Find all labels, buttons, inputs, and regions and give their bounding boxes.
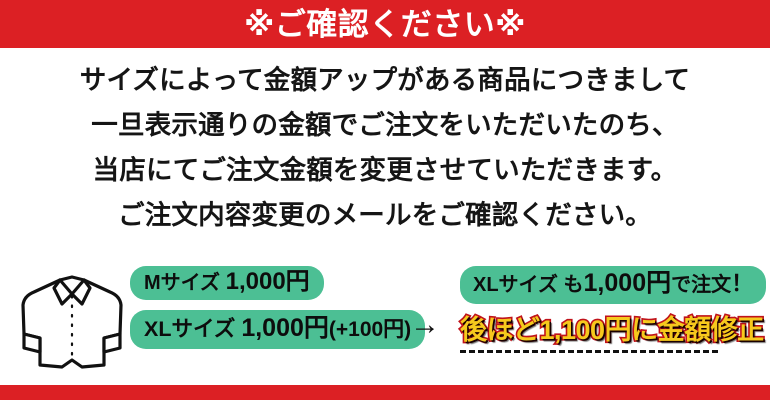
price-pill-size-m: Mサイズ 1,000円	[130, 266, 324, 300]
order-amount: 1,000円	[584, 269, 672, 297]
size-price-notice-banner: ※ご確認ください※ サイズによって金額アップがある商品につきまして 一旦表示通り…	[0, 0, 770, 400]
order-exclamation: ！	[731, 271, 753, 296]
order-instruction-pill: XLサイズ も1,000円で注文！	[460, 266, 766, 304]
size-xl-surcharge: (+100円)	[329, 318, 411, 341]
size-xl-label: XLサイズ	[144, 317, 235, 341]
before-price-group: Mサイズ 1,000円 XLサイズ 1,000円(+100円)	[130, 266, 392, 349]
notice-body: サイズによって金額アップがある商品につきまして 一旦表示通りの金額でご注文をいた…	[0, 58, 770, 238]
order-particle: も	[564, 274, 584, 296]
size-xl-amount: 1,000円	[241, 314, 329, 342]
size-m-amount: 1,000円	[226, 268, 310, 295]
dashed-underline	[460, 350, 718, 353]
dress-shirt-icon	[16, 272, 128, 372]
notice-line-3: 当店にてご注文金額を変更させていただきます。	[0, 148, 770, 193]
footer-bar	[0, 385, 770, 400]
page-title: ※ご確認ください※	[244, 9, 526, 40]
order-suffix: で注文	[671, 274, 731, 296]
price-correction-callout: 後ほど1,100円に金額修正	[460, 314, 722, 353]
arrow-right-icon: →	[400, 310, 450, 340]
notice-line-1: サイズによって金額アップがある商品につきまして	[0, 58, 770, 103]
order-size-label: XLサイズ	[473, 274, 558, 296]
notice-line-2: 一旦表示通りの金額でご注文をいただいたのち、	[0, 103, 770, 148]
price-correction-text: 後ほど1,100円に金額修正	[460, 314, 722, 346]
price-pill-size-xl: XLサイズ 1,000円(+100円)	[130, 310, 425, 349]
notice-line-4: ご注文内容変更のメールをご確認ください。	[0, 193, 770, 238]
header-bar: ※ご確認ください※	[0, 0, 770, 48]
size-m-label: Mサイズ	[144, 272, 220, 294]
after-price-group: XLサイズ も1,000円で注文！ 後ほど1,100円に金額修正	[460, 266, 760, 353]
price-comparison: Mサイズ 1,000円 XLサイズ 1,000円(+100円) → XLサイズ …	[0, 266, 770, 378]
